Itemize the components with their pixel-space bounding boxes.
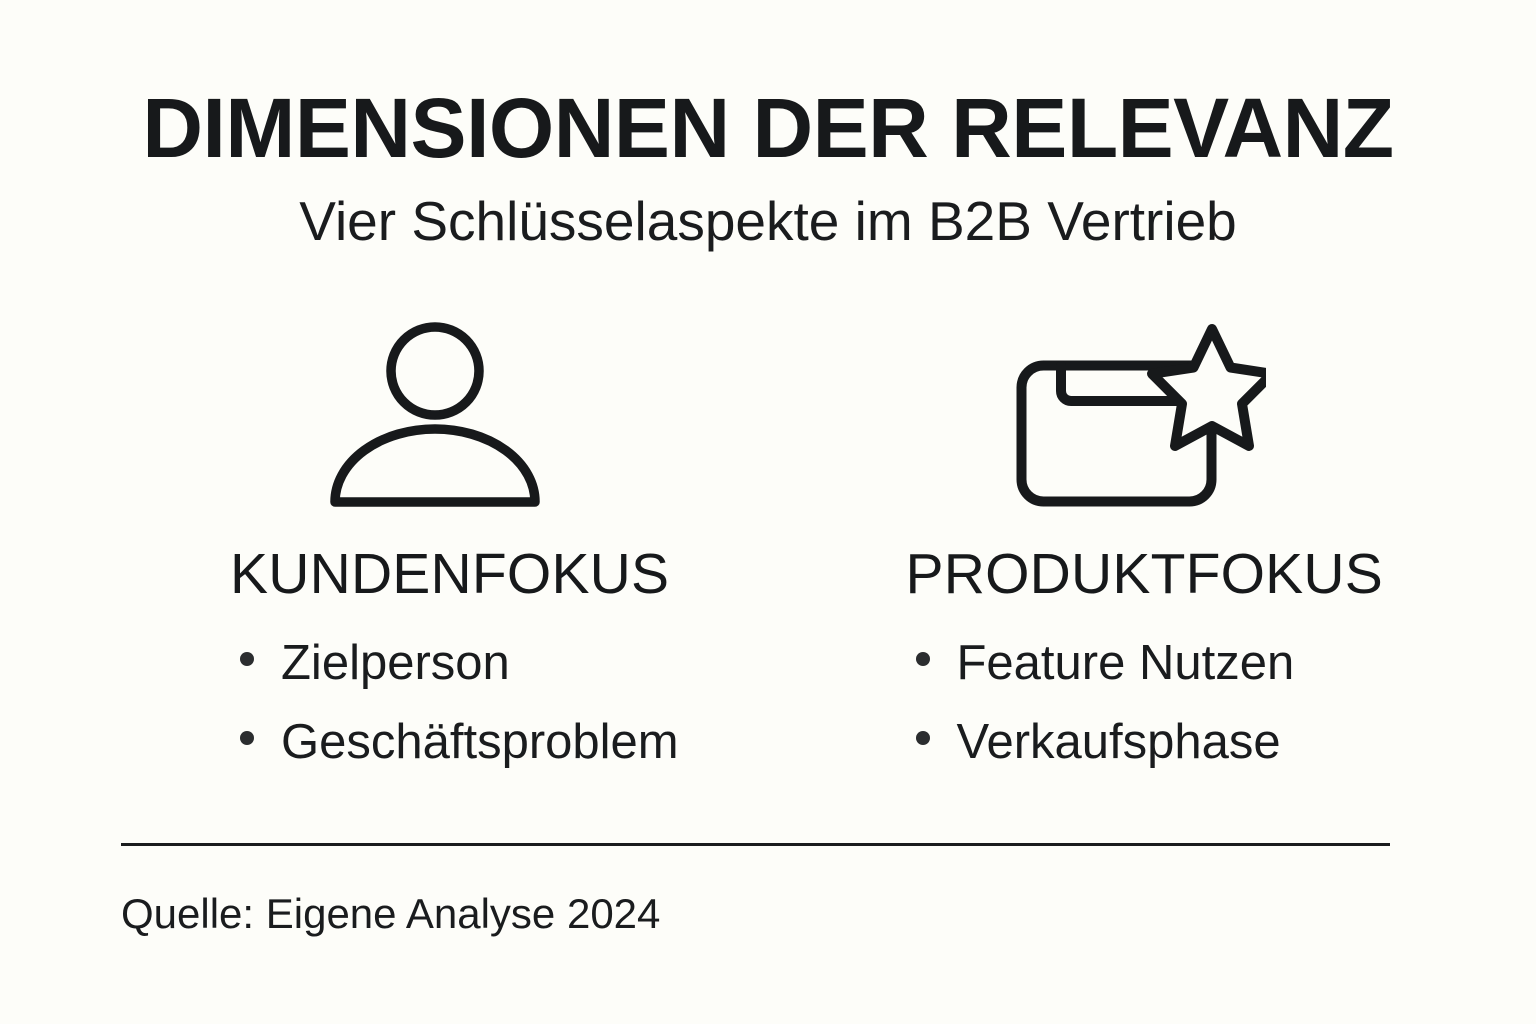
list-item: Verkaufsphase	[916, 718, 1295, 797]
list-item: Zielperson	[240, 639, 679, 718]
bullet-list-produktfokus: Feature Nutzen Verkaufsphase	[906, 603, 1295, 797]
list-item-label: Verkaufsphase	[957, 718, 1281, 767]
footer-divider	[121, 843, 1390, 846]
source-note: Quelle: Eigene Analyse 2024	[121, 893, 660, 935]
column-produktfokus: PRODUKTFOKUS Feature Nutzen Verkaufsphas…	[861, 312, 1536, 797]
bullet-dot-icon	[240, 652, 254, 666]
bullet-list-kundenfokus: Zielperson Geschäftsproblem	[230, 603, 679, 797]
column-kundenfokus: KUNDENFOKUS Zielperson Geschäftsproblem	[0, 312, 861, 797]
dimension-columns: KUNDENFOKUS Zielperson Geschäftsproblem	[0, 312, 1536, 797]
person-icon	[330, 312, 540, 512]
column-heading-kundenfokus: KUNDENFOKUS	[230, 512, 669, 603]
bullet-dot-icon	[240, 731, 254, 745]
list-item-label: Feature Nutzen	[957, 639, 1295, 688]
bullet-dot-icon	[916, 652, 930, 666]
header: DIMENSIONEN DER RELEVANZ Vier Schlüssela…	[0, 86, 1536, 249]
page-title: DIMENSIONEN DER RELEVANZ	[0, 86, 1536, 170]
list-item-label: Geschäftsproblem	[281, 718, 679, 767]
page-subtitle: Vier Schlüsselaspekte im B2B Vertrieb	[0, 170, 1536, 249]
column-heading-produktfokus: PRODUKTFOKUS	[906, 512, 1383, 603]
product-star-icon	[1016, 312, 1266, 512]
bullet-dot-icon	[916, 731, 930, 745]
infographic-canvas: DIMENSIONEN DER RELEVANZ Vier Schlüssela…	[0, 0, 1536, 1024]
list-item: Geschäftsproblem	[240, 718, 679, 797]
list-item: Feature Nutzen	[916, 639, 1295, 718]
list-item-label: Zielperson	[281, 639, 510, 688]
